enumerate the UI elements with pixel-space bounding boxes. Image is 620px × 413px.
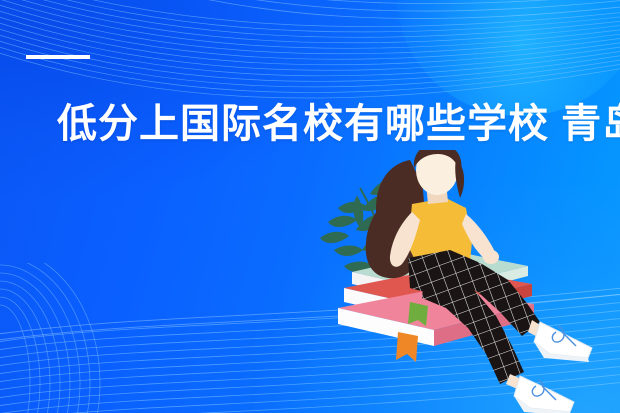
page-title: 低分上国际名校有哪些学校 青岛大 — [57, 100, 577, 148]
right-hand — [483, 250, 499, 264]
bookmark-orange — [396, 332, 418, 362]
illustration-woman-on-books — [300, 150, 620, 413]
white-sneakers — [514, 322, 592, 413]
promo-banner: 低分上国际名校有哪些学校 青岛大 — [0, 0, 620, 413]
hair-right-strand — [455, 158, 464, 198]
accent-rule — [26, 55, 90, 59]
